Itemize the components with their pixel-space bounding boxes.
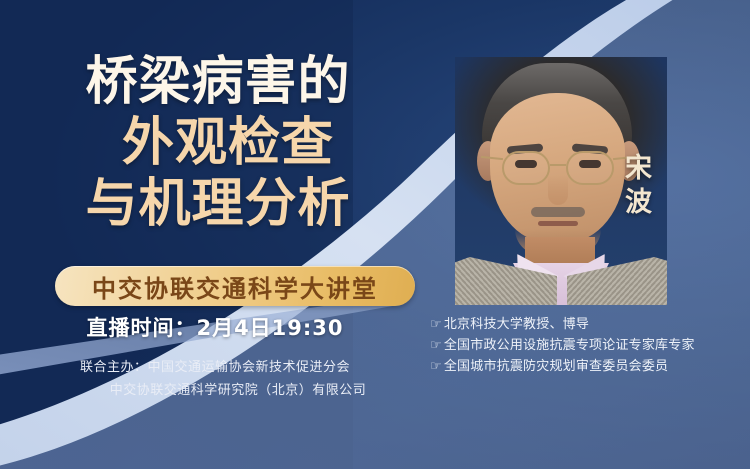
credential-text: 北京科技大学教授、博导 bbox=[444, 314, 589, 335]
title-line-3: 与机理分析 bbox=[0, 178, 430, 230]
webinar-poster: 桥梁病害的 外观检查 与机理分析 中交协联交通科学大讲堂 直播时间：2月4日19… bbox=[0, 0, 750, 469]
portrait-nose bbox=[548, 175, 568, 205]
series-banner-pill: 中交协联交通科学大讲堂 bbox=[55, 266, 415, 306]
poster-title: 桥梁病害的 外观检查 与机理分析 bbox=[0, 56, 430, 230]
series-banner-label: 中交协联交通科学大讲堂 bbox=[92, 269, 378, 304]
credential-text: 全国市政公用设施抗震专项论证专家库专家 bbox=[444, 335, 695, 356]
pointing-hand-icon: ☞ bbox=[430, 335, 442, 356]
pointing-hand-icon: ☞ bbox=[430, 314, 442, 335]
portrait-glasses-lens-right bbox=[566, 151, 614, 185]
title-line-1: 桥梁病害的 bbox=[0, 56, 430, 108]
credential-text: 全国城市抗震防灾规划审查委员会委员 bbox=[444, 356, 668, 377]
live-time-text: 直播时间：2月4日19:30 bbox=[0, 312, 430, 342]
credential-item: ☞ 全国城市抗震防灾规划审查委员会委员 bbox=[430, 356, 695, 377]
speaker-name: 宋 波 bbox=[625, 152, 654, 220]
speaker-name-char-2: 波 bbox=[625, 186, 654, 220]
speaker-credentials-list: ☞ 北京科技大学教授、博导 ☞ 全国市政公用设施抗震专项论证专家库专家 ☞ 全国… bbox=[430, 314, 695, 378]
portrait-glasses-lens-left bbox=[502, 151, 550, 185]
speaker-name-char-1: 宋 bbox=[625, 152, 654, 186]
pointing-hand-icon: ☞ bbox=[430, 356, 442, 377]
portrait-mouth bbox=[538, 221, 578, 226]
organizers-block: 联合主办：中国交通运输协会新技术促进分会 中交协联交通科学研究院（北京）有限公司 bbox=[0, 357, 430, 403]
portrait-moustache bbox=[531, 207, 585, 217]
left-content-column: 桥梁病害的 外观检查 与机理分析 中交协联交通科学大讲堂 直播时间：2月4日19… bbox=[0, 0, 430, 469]
portrait-glasses-bridge bbox=[550, 164, 566, 166]
organizer-line-1: 联合主办：中国交通运输协会新技术促进分会 bbox=[0, 357, 430, 380]
credential-item: ☞ 全国市政公用设施抗震专项论证专家库专家 bbox=[430, 335, 695, 356]
credential-item: ☞ 北京科技大学教授、博导 bbox=[430, 314, 695, 335]
organizer-line-2: 中交协联交通科学研究院（北京）有限公司 bbox=[0, 380, 430, 403]
title-line-2: 外观检查 bbox=[0, 117, 430, 169]
